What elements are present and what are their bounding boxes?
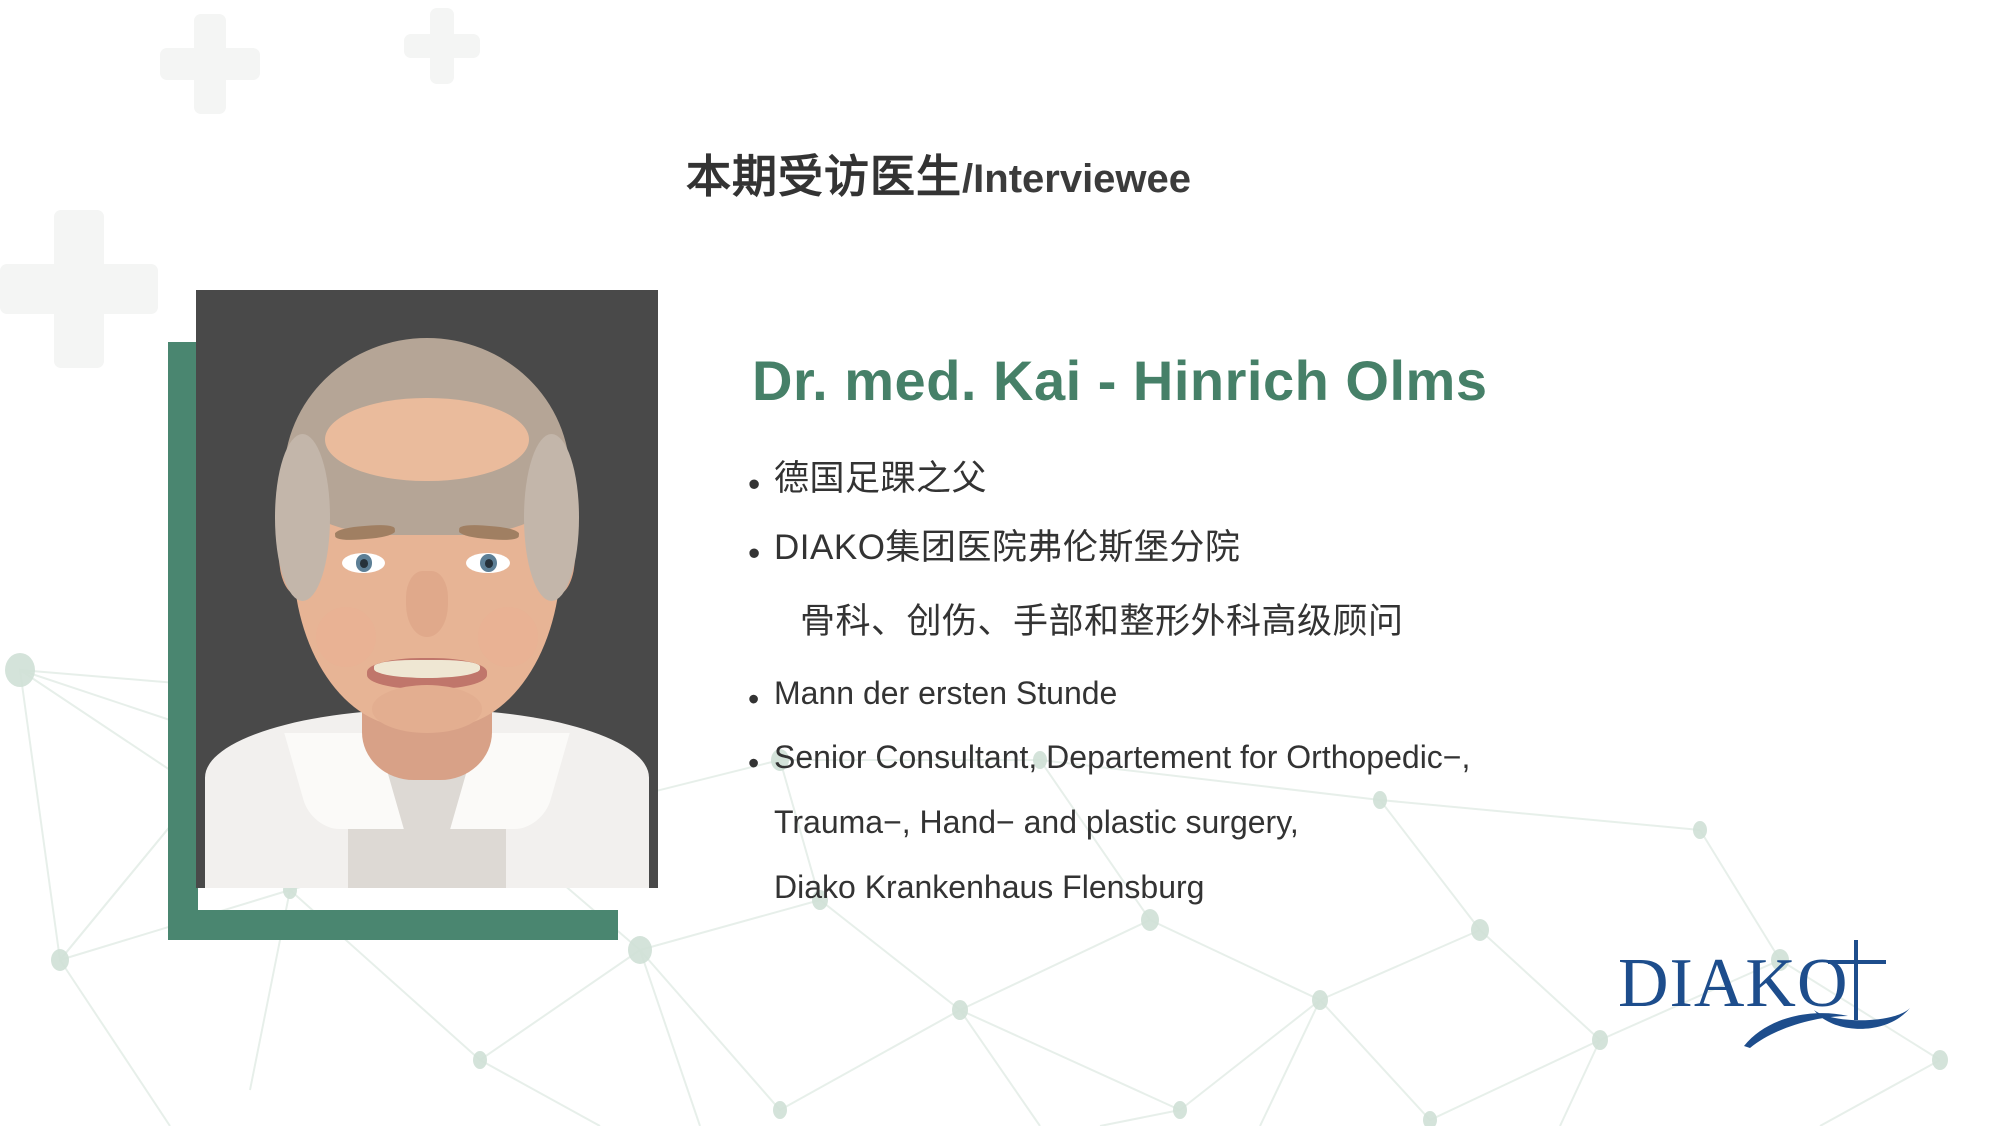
list-item-continuation: • Diako Krankenhaus Flensburg [748, 858, 1888, 923]
page-title-chinese: 本期受访医生 [686, 151, 962, 202]
bullet-dot-icon: • [748, 664, 774, 728]
plus-cross-icon-medium [0, 210, 158, 368]
list-item: • Mann der ersten Stunde [748, 664, 1888, 728]
diako-wordmark: DIAKO [1618, 945, 1849, 1022]
bullet-dot-icon: • [748, 516, 774, 586]
doctor-name: Dr. med. Kai - Hinrich Olms [752, 348, 1487, 413]
page-title-english: Interviewee [973, 157, 1191, 201]
credential-line: 骨科、创伤、手部和整形外科高级顾问 [774, 586, 1888, 658]
portrait-cheek-left [316, 607, 376, 667]
credential-line: DIAKO集团医院弗伦斯堡分院 [774, 516, 1888, 580]
bullet-dot-icon: • [748, 448, 774, 516]
portrait-forehead [325, 398, 528, 482]
diako-logo-svg: DIAKO [1618, 938, 1918, 1056]
credential-line: Senior Consultant, Departement for Ortho… [774, 728, 1888, 787]
diako-logo: DIAKO [1618, 938, 1918, 1056]
page-title: 本期受访医生/Interviewee [686, 140, 1191, 205]
plus-cross-icon-large [160, 14, 260, 114]
portrait-block [168, 290, 658, 940]
list-item: • DIAKO集团医院弗伦斯堡分院 [748, 516, 1888, 586]
portrait-nose [406, 571, 448, 637]
credential-line: Mann der ersten Stunde [774, 664, 1888, 722]
portrait-teeth [374, 660, 480, 678]
portrait-illustration [196, 290, 658, 888]
portrait-hair-right [524, 434, 579, 601]
credential-line: Trauma−, Hand− and plastic surgery, [774, 793, 1888, 852]
portrait-photo [196, 290, 658, 888]
bullet-dot-icon: • [748, 728, 774, 793]
portrait-iris-left [356, 554, 373, 572]
slide-canvas: 本期受访医生/Interviewee [0, 0, 2000, 1126]
credential-line: 德国足踝之父 [774, 448, 1888, 510]
credentials-list: • 德国足踝之父 • DIAKO集团医院弗伦斯堡分院 • 骨科、创伤、手部和整形… [748, 448, 1888, 923]
portrait-chin [372, 685, 483, 733]
list-item-continuation: • 骨科、创伤、手部和整形外科高级顾问 [748, 586, 1888, 664]
list-item-continuation: • Trauma−, Hand− and plastic surgery, [748, 793, 1888, 858]
plus-cross-icon-small [404, 8, 480, 84]
list-item: • 德国足踝之父 [748, 448, 1888, 516]
portrait-cheek-right [478, 607, 538, 667]
portrait-iris-right [480, 554, 497, 572]
credential-line: Diako Krankenhaus Flensburg [774, 858, 1888, 917]
page-title-separator: / [962, 157, 973, 201]
list-item: • Senior Consultant, Departement for Ort… [748, 728, 1888, 793]
portrait-hair-left [275, 434, 330, 601]
